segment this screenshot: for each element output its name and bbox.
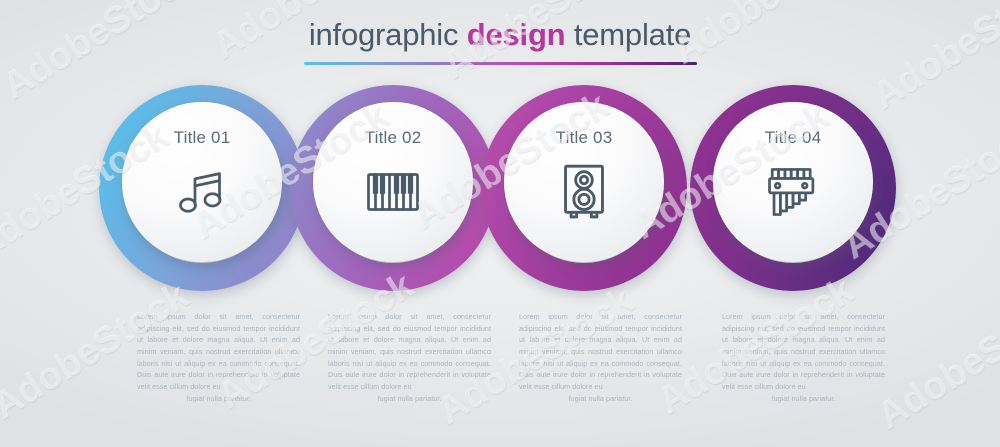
step-1-description-text: Lorem ipsum dolor sit amet, consectetur …	[137, 312, 300, 391]
step-4-title: Title 04	[765, 128, 822, 148]
step-1-description-last: fugiat nulla pariatur.	[137, 393, 300, 405]
title-emphasis: design	[467, 17, 566, 52]
step-4-description: Lorem ipsum dolor sit amet, consectetur …	[722, 311, 885, 404]
step-2-title: Title 02	[365, 128, 422, 148]
pan-flute-icon	[762, 161, 824, 223]
step-3-description-text: Lorem ipsum dolor sit amet, consectetur …	[519, 312, 682, 391]
page-title: infographic design template	[0, 18, 1000, 52]
step-2-description: Lorem ipsum dolor sit amet, consectetur …	[328, 311, 491, 404]
step-4-disc[interactable]: Title 04	[713, 102, 873, 262]
header: infographic design template	[0, 18, 1000, 65]
step-3-title: Title 03	[556, 128, 613, 148]
step-4-description-text: Lorem ipsum dolor sit amet, consectetur …	[722, 312, 885, 391]
piano-keyboard-icon	[362, 161, 424, 223]
speaker-icon	[553, 161, 615, 223]
step-1-title: Title 01	[174, 128, 231, 148]
step-3-description: Lorem ipsum dolor sit amet, consectetur …	[519, 311, 682, 404]
step-3[interactable]: Title 03	[481, 85, 687, 291]
step-3-description-last: fugiat nulla pariatur.	[519, 393, 682, 405]
step-2-disc[interactable]: Title 02	[313, 102, 473, 262]
step-2-description-last: fugiat nulla pariatur.	[328, 393, 491, 405]
step-4[interactable]: Title 04	[690, 85, 896, 291]
description-row: Lorem ipsum dolor sit amet, consectetur …	[0, 311, 1000, 411]
title-gradient-rule	[304, 62, 697, 65]
title-part-2: template	[574, 17, 691, 52]
step-2[interactable]: Title 02	[290, 85, 496, 291]
step-4-description-last: fugiat nulla pariatur.	[722, 393, 885, 405]
step-1-disc[interactable]: Title 01	[122, 102, 282, 262]
step-2-description-text: Lorem ipsum dolor sit amet, consectetur …	[328, 312, 491, 391]
step-3-disc[interactable]: Title 03	[504, 102, 664, 262]
step-1-description: Lorem ipsum dolor sit amet, consectetur …	[137, 311, 300, 404]
infographic-canvas: infographic design template Title 01	[0, 0, 1000, 447]
step-1[interactable]: Title 01	[99, 85, 305, 291]
music-note-icon	[171, 161, 233, 223]
title-part-1: infographic	[309, 17, 458, 52]
